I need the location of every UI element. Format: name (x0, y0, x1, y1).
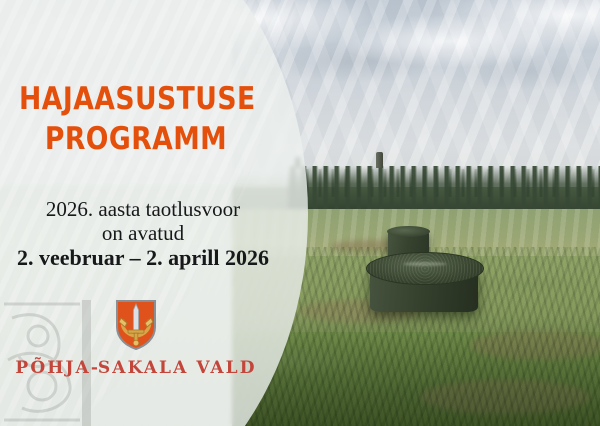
logotype-dash: - (91, 358, 98, 378)
logotype-p: P (15, 358, 30, 378)
logotype-o: Õ (30, 358, 47, 378)
logotype-sakala-vald: SAKALA VALD (98, 358, 257, 378)
subtitle-line-1: 2026. aasta taotlusvoor (0, 197, 286, 222)
subtitle-date-range: 2. veebruar – 2. aprill 2026 (0, 245, 286, 271)
headline-line-1: HAJAASUSTUSE (19, 84, 253, 115)
coat-of-arms-icon (115, 299, 157, 350)
logotype-text: PÕHJA-SAKALA VALD (0, 358, 272, 378)
content-column: HAJAASUSTUSE PROGRAMM 2026. aasta taotlu… (0, 0, 292, 426)
subtitle-line-2: on avatud (0, 221, 286, 246)
headline-line-2: PROGRAMM (19, 124, 253, 155)
logotype-hja: HJA (47, 358, 91, 378)
poster-banner: HAJAASUSTUSE PROGRAMM 2026. aasta taotlu… (0, 0, 600, 426)
